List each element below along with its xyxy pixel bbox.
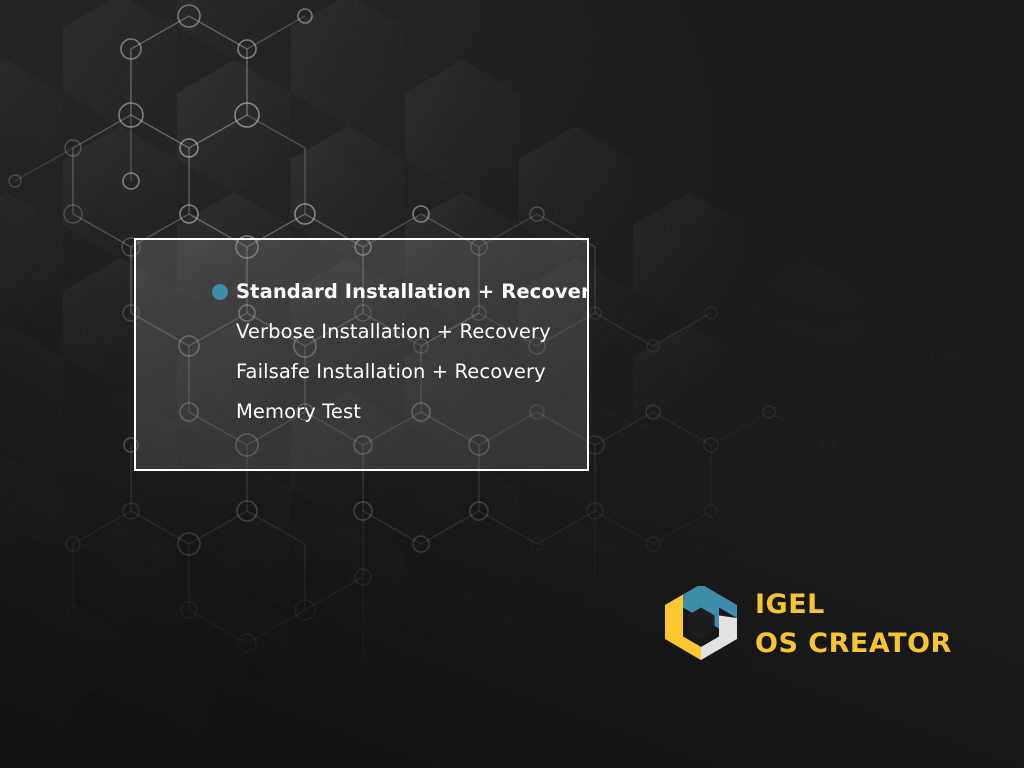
boot-menu-list: Standard Installation + Recovery Verbose… xyxy=(136,240,587,432)
logo-segment-yellow-foot xyxy=(683,637,701,661)
menu-item-verbose-installation[interactable]: Verbose Installation + Recovery xyxy=(176,312,587,352)
menu-item-label: Failsafe Installation + Recovery xyxy=(236,360,546,383)
menu-item-label: Memory Test xyxy=(236,400,361,423)
igel-os-creator-logo: IGEL OS CREATOR xyxy=(663,586,963,666)
logo-line-os-creator: OS CREATOR xyxy=(755,627,952,660)
menu-item-memory-test[interactable]: Memory Test xyxy=(176,392,587,432)
boot-menu-panel: Standard Installation + Recovery Verbose… xyxy=(134,238,589,471)
menu-item-label: Verbose Installation + Recovery xyxy=(236,320,551,343)
logo-line-igel: IGEL xyxy=(755,588,952,621)
menu-item-standard-installation[interactable]: Standard Installation + Recovery xyxy=(176,272,587,312)
selection-bullet-icon xyxy=(212,284,228,300)
logo-wordmark: IGEL OS CREATOR xyxy=(755,588,952,660)
menu-item-label: Standard Installation + Recovery xyxy=(236,280,589,303)
boot-screen: Standard Installation + Recovery Verbose… xyxy=(0,0,1024,768)
menu-item-failsafe-installation[interactable]: Failsafe Installation + Recovery xyxy=(176,352,587,392)
igel-hexagon-logo-icon xyxy=(663,586,737,662)
